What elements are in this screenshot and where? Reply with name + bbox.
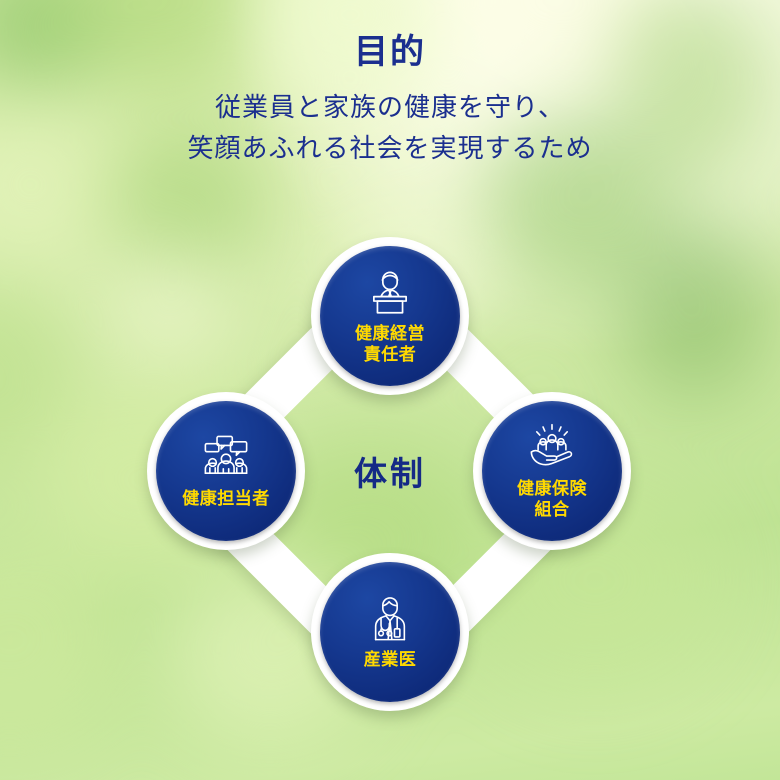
node-body: 健康保険 組合 (482, 401, 622, 541)
podium-speaker-icon (361, 267, 419, 319)
node-label: 健康保険 組合 (517, 478, 587, 521)
people-speech-bubbles-icon (197, 432, 255, 484)
node-occupational-physician[interactable]: 産業医 (311, 553, 469, 711)
subtitle-line-1: 従業員と家族の健康を守り、 (0, 87, 780, 127)
node-label: 健康担当者 (182, 488, 270, 509)
node-body: 産業医 (320, 562, 460, 702)
organization-diagram: 体制 健康経営 責任者 (0, 215, 780, 775)
page-title: 目的 (0, 34, 780, 71)
node-label: 産業医 (364, 649, 417, 670)
node-health-management-officer[interactable]: 健康経営 責任者 (311, 237, 469, 395)
node-label: 健康経営 責任者 (355, 323, 425, 366)
hand-holding-people-icon (523, 422, 581, 474)
header: 目的 従業員と家族の健康を守り、 笑顔あふれる社会を実現するため (0, 34, 780, 168)
node-health-insurance-association[interactable]: 健康保険 組合 (473, 392, 631, 550)
node-body: 健康担当者 (156, 401, 296, 541)
node-health-representative[interactable]: 健康担当者 (147, 392, 305, 550)
subtitle-line-2: 笑顔あふれる社会を実現するため (0, 128, 780, 168)
doctor-stethoscope-icon (361, 593, 419, 645)
diagram-center-label: 体制 (0, 447, 780, 495)
node-body: 健康経営 責任者 (320, 246, 460, 386)
